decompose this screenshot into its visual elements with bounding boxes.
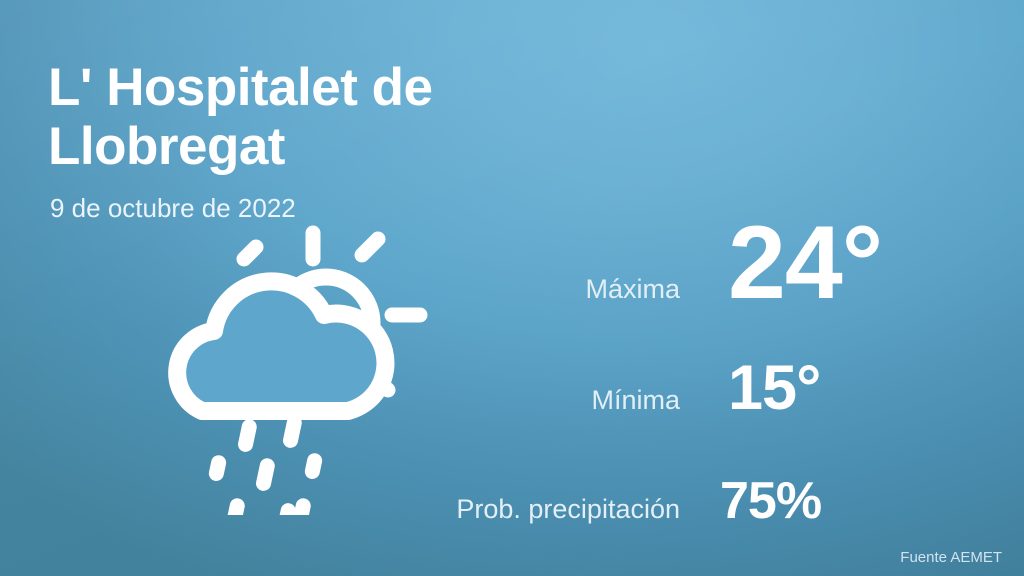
page-title: L' Hospitalet de Llobregat: [48, 58, 648, 177]
sun-behind-rain-cloud-icon: [140, 215, 440, 515]
maxima-value: 24°: [728, 211, 882, 315]
precipitation-label: Prob. precipitación: [420, 494, 680, 525]
minima-value: 15°: [728, 357, 820, 420]
readings-list: Máxima 24° Mínima 15° Prob. precipitació…: [430, 205, 960, 535]
reading-row-maxima: Máxima 24°: [430, 211, 960, 315]
minima-label: Mínima: [430, 385, 680, 416]
precipitation-value: 75%: [720, 475, 821, 527]
reading-row-minima: Mínima 15°: [430, 357, 820, 420]
weather-card: L' Hospitalet de Llobregat 9 de octubre …: [0, 0, 1024, 576]
forecast-date: 9 de octubre de 2022: [50, 193, 296, 224]
maxima-label: Máxima: [430, 274, 680, 305]
source-attribution: Fuente AEMET: [900, 549, 1002, 566]
reading-row-precipitation: Prob. precipitación 75%: [420, 475, 821, 527]
